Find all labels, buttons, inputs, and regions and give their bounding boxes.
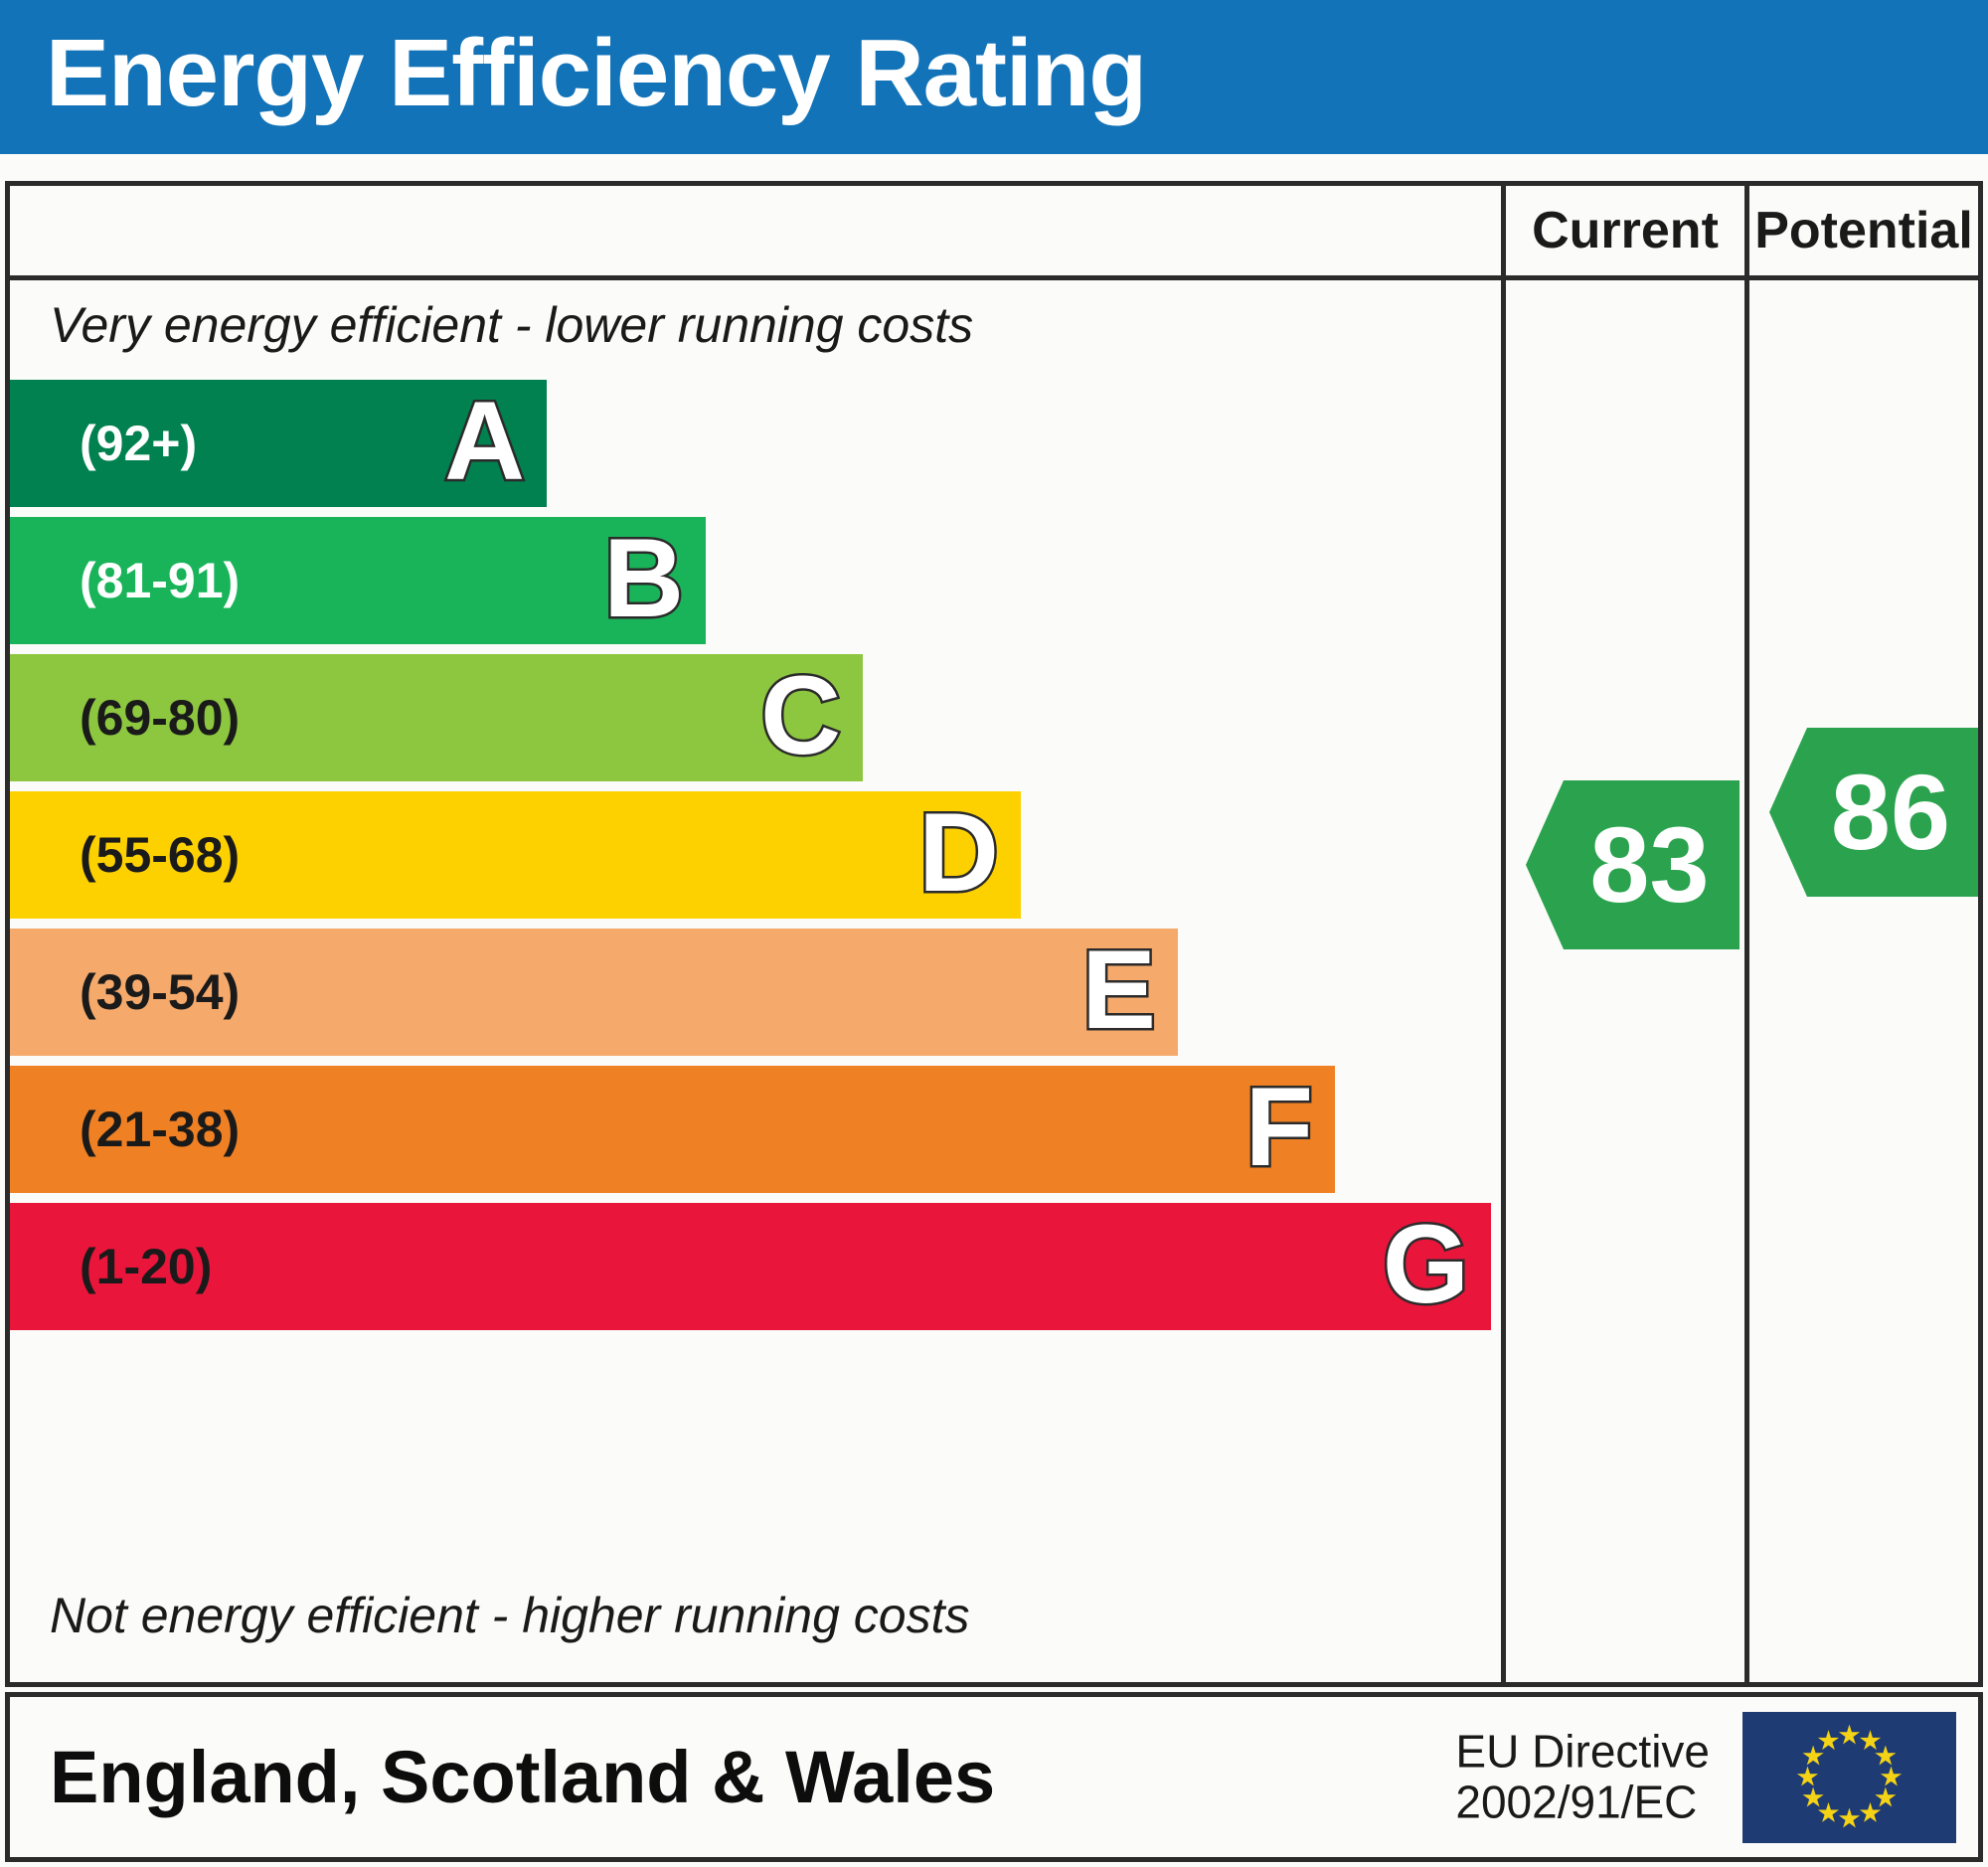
chart-header-banner: Energy Efficiency Rating xyxy=(0,0,1988,154)
eu-star-icon xyxy=(1802,1787,1824,1809)
band-letter-c: C xyxy=(760,660,841,771)
directive-line-2: 2002/91/EC xyxy=(1455,1778,1710,1829)
eu-star-icon xyxy=(1839,1808,1861,1830)
band-range-g: (1-20) xyxy=(80,1242,212,1291)
band-letter-g: G xyxy=(1383,1209,1469,1320)
chart-frame: Current Potential Very energy efficient … xyxy=(5,181,1983,1687)
band-letter-e: E xyxy=(1081,934,1156,1046)
band-row-e: (39-54) E xyxy=(10,929,1178,1056)
energy-efficiency-rating-chart: Energy Efficiency Rating Current Potenti… xyxy=(0,0,1988,1867)
directive-line-1: EU Directive xyxy=(1455,1726,1710,1778)
note-efficient: Very energy efficient - lower running co… xyxy=(50,300,973,350)
current-rating-value: 83 xyxy=(1556,811,1709,919)
band-letter-d: D xyxy=(918,797,999,909)
page-title: Energy Efficiency Rating xyxy=(46,26,1146,121)
band-range-e: (39-54) xyxy=(80,967,240,1017)
current-rating-badge: 83 xyxy=(1526,780,1739,949)
chart-footer: England, Scotland & Wales EU Directive 2… xyxy=(5,1692,1983,1862)
eu-star-icon xyxy=(1797,1767,1819,1788)
potential-rating-value: 86 xyxy=(1797,759,1950,866)
band-range-f: (21-38) xyxy=(80,1104,240,1154)
band-row-g: (1-20) G xyxy=(10,1203,1491,1330)
band-range-a: (92+) xyxy=(80,419,197,468)
note-inefficient: Not energy efficient - higher running co… xyxy=(50,1591,970,1640)
eu-star-icon xyxy=(1818,1802,1840,1824)
eu-star-icon xyxy=(1881,1767,1903,1788)
eu-star-icon xyxy=(1860,1730,1882,1752)
divider-bars-current xyxy=(1501,186,1506,1682)
rating-bands: Very energy efficient - lower running co… xyxy=(10,280,1496,1677)
footer-region-label: England, Scotland & Wales xyxy=(50,1741,995,1814)
eu-star-icon xyxy=(1875,1787,1897,1809)
footer-directive: EU Directive 2002/91/EC xyxy=(1455,1726,1710,1828)
eu-star-icon xyxy=(1818,1730,1840,1752)
eu-star-icon xyxy=(1802,1746,1824,1768)
eu-star-icon xyxy=(1860,1802,1882,1824)
eu-flag-icon xyxy=(1742,1712,1956,1843)
divider-current-potential xyxy=(1744,186,1749,1682)
band-row-f: (21-38) F xyxy=(10,1066,1335,1193)
band-row-d: (55-68) D xyxy=(10,791,1021,919)
band-row-c: (69-80) C xyxy=(10,654,863,781)
band-row-b: (81-91) B xyxy=(10,517,706,644)
band-range-b: (81-91) xyxy=(80,556,240,605)
eu-star-icon xyxy=(1839,1725,1861,1747)
band-range-d: (55-68) xyxy=(80,830,240,880)
eu-star-icon xyxy=(1875,1746,1897,1768)
band-letter-a: A xyxy=(444,386,525,497)
potential-rating-badge: 86 xyxy=(1769,728,1978,897)
band-range-c: (69-80) xyxy=(80,693,240,743)
band-row-a: (92+) A xyxy=(10,380,547,507)
band-letter-b: B xyxy=(603,523,684,634)
column-header-current: Current xyxy=(1506,186,1744,275)
column-header-potential: Potential xyxy=(1749,186,1978,275)
band-letter-f: F xyxy=(1245,1072,1313,1183)
